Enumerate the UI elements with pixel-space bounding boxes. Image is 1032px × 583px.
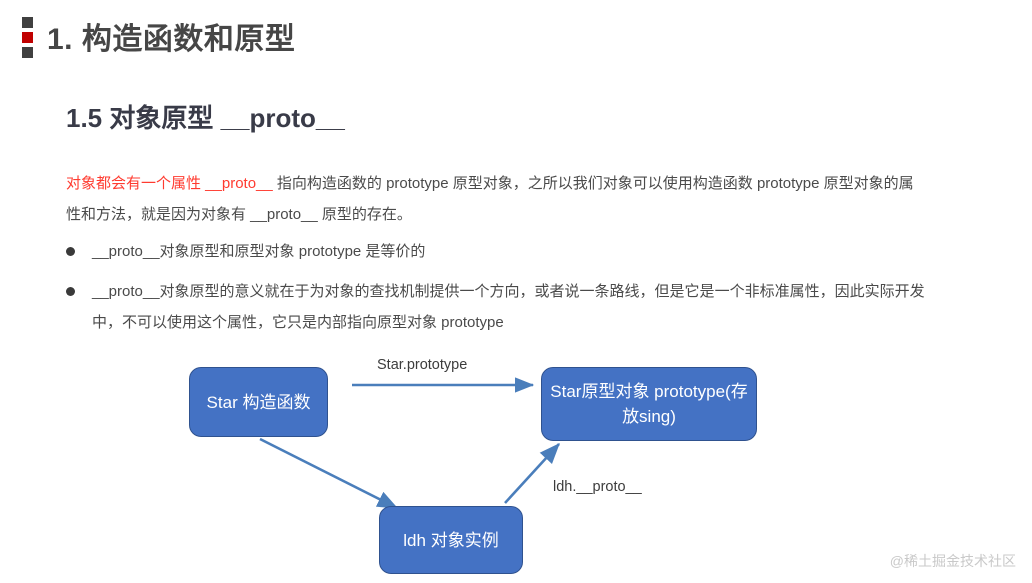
paragraph-highlight: 对象都会有一个属性 __proto__ (66, 175, 273, 192)
bullet-dot-icon (66, 287, 75, 296)
title-marker-group (22, 15, 33, 58)
edge-label-star-prototype: Star.prototype (377, 357, 467, 373)
title-square-red (22, 32, 33, 43)
title-square-dark-top (22, 17, 33, 28)
prototype-diagram: Star 构造函数 Star原型对象 prototype(存放sing) ldh… (0, 340, 1032, 583)
edge-label-ldh-proto: ldh.__proto__ (553, 479, 642, 495)
arrow-instance-to-prototype (505, 444, 559, 503)
slide-title-row: 1. 构造函数和原型 (22, 14, 295, 58)
bullet-text: __proto__对象原型的意义就在于为对象的查找机制提供一个方向，或者说一条路… (92, 276, 946, 338)
arrow-constructor-to-instance (260, 439, 397, 508)
page-title: 1. 构造函数和原型 (47, 14, 295, 58)
list-item: __proto__对象原型的意义就在于为对象的查找机制提供一个方向，或者说一条路… (66, 276, 946, 338)
bullet-dot-icon (66, 247, 75, 256)
title-square-dark-bottom (22, 47, 33, 58)
intro-paragraph: 对象都会有一个属性 __proto__ 指向构造函数的 prototype 原型… (66, 168, 926, 230)
diagram-node-prototype: Star原型对象 prototype(存放sing) (541, 367, 757, 441)
list-item: __proto__对象原型和原型对象 prototype 是等价的 (66, 236, 946, 267)
bullet-text: __proto__对象原型和原型对象 prototype 是等价的 (92, 236, 946, 267)
section-heading: 1.5 对象原型 __proto__ (66, 98, 345, 135)
watermark: @稀土掘金技术社区 (890, 551, 1016, 571)
diagram-node-constructor: Star 构造函数 (189, 367, 328, 437)
bullet-list: __proto__对象原型和原型对象 prototype 是等价的 __prot… (66, 236, 946, 347)
diagram-node-instance: ldh 对象实例 (379, 506, 523, 574)
